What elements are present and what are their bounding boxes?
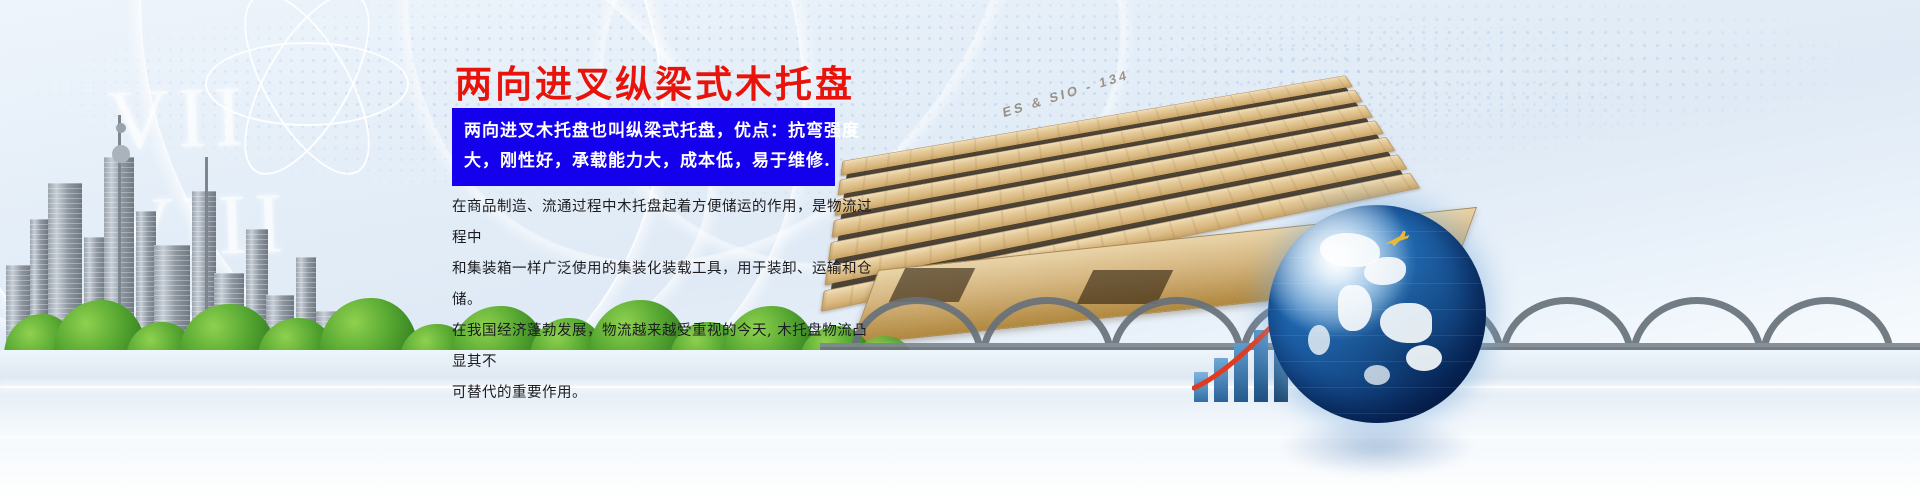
- water-highlight-line: [0, 436, 1920, 438]
- highlight-callout-box: 两向进叉木托盘也叫纵梁式托盘，优点：抗弯强度 大，刚性好，承载能力大，成本低，易…: [452, 108, 835, 186]
- product-banner: VII VIII IX: [0, 0, 1920, 500]
- highlight-line-1: 两向进叉木托盘也叫纵梁式托盘，优点：抗弯强度: [464, 116, 823, 146]
- earth-globe-icon: [1268, 205, 1486, 423]
- globe-reflection: [1278, 418, 1476, 476]
- page-title: 两向进叉纵梁式木托盘: [455, 54, 855, 108]
- water-reflection-band: [0, 350, 1920, 500]
- description-paragraphs: 在商品制造、流通过程中木托盘起着方便储运的作用，是物流过程中 和集装箱一样广泛使…: [452, 192, 872, 409]
- description-line: 和集装箱一样广泛使用的集装化装载工具，用于装卸、运输和仓储。: [452, 254, 872, 316]
- description-line: 在商品制造、流通过程中木托盘起着方便储运的作用，是物流过程中: [452, 192, 872, 254]
- highlight-line-2: 大，刚性好，承载能力大，成本低，易于维修.: [464, 146, 823, 176]
- water-highlight-line: [0, 386, 1920, 388]
- description-line: 在我国经济蓬勃发展，物流越来越受重视的今天, 木托盘物流凸显其不: [452, 316, 872, 378]
- description-line: 可替代的重要作用。: [452, 378, 872, 409]
